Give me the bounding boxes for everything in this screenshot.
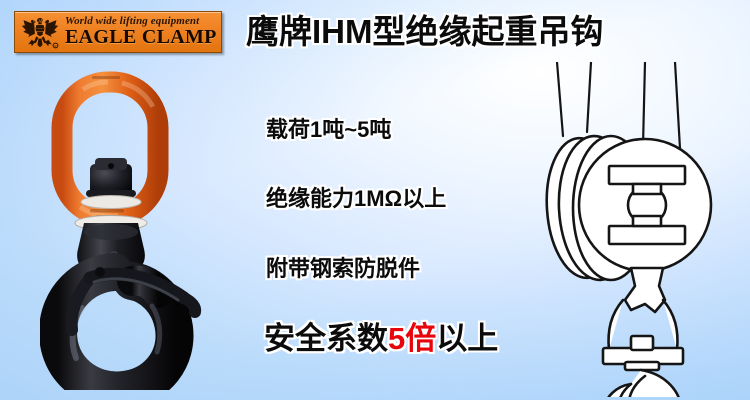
- lower-hook: [603, 370, 681, 397]
- page-title: 鹰牌IHM型绝缘起重吊钩: [246, 12, 604, 52]
- feature-line-safety-latch: 附带钢索防脱件: [266, 251, 420, 283]
- svg-text:CLAMP: CLAMP: [33, 19, 47, 23]
- eagle-emblem-icon: R CLAMP: [17, 14, 63, 50]
- safety-factor-suffix: 以上: [436, 321, 498, 356]
- logo-wordmark: EAGLE CLAMP: [65, 27, 221, 48]
- latch-pivot-pin: [95, 267, 105, 277]
- feature-line-insulation: 绝缘能力1MΩ以上: [266, 181, 446, 213]
- swivel-yoke: [603, 268, 683, 370]
- feature-line-safety-factor: 安全系数5倍以上: [264, 313, 498, 358]
- brand-logo: R CLAMP World wide lifting equipment EAG…: [14, 11, 222, 53]
- safety-factor-prefix: 安全系数: [264, 321, 388, 356]
- feature-line-load: 载荷1吨~5吨: [266, 112, 391, 144]
- swivel-hub: [86, 158, 136, 197]
- product-photo-swivel-hook: [40, 60, 240, 390]
- safety-factor-value: 5倍: [388, 321, 436, 356]
- pulley-block-line-drawing: [505, 62, 745, 397]
- promo-banner: R CLAMP World wide lifting equipment EAG…: [0, 0, 750, 400]
